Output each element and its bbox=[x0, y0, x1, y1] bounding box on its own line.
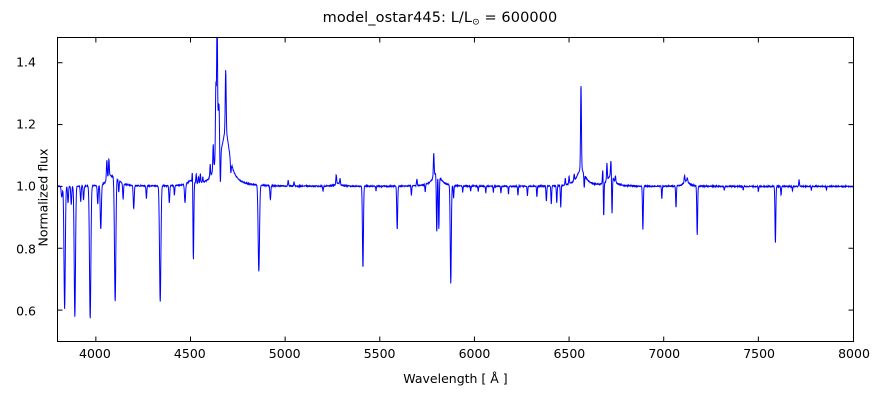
spectrum-figure: model_ostar445: L/L⊙ = 600000 Normalized… bbox=[0, 0, 880, 400]
x-tick-label: 6500 bbox=[553, 346, 585, 361]
y-tick-label: 0.8 bbox=[16, 241, 36, 256]
x-tick-label: 4000 bbox=[79, 346, 111, 361]
plot-area bbox=[57, 37, 854, 342]
chart-title-suffix: = 600000 bbox=[480, 10, 558, 26]
y-tick-label: 1.2 bbox=[16, 117, 36, 132]
x-tick-label: 6000 bbox=[459, 346, 491, 361]
x-tick-label: 7500 bbox=[743, 346, 775, 361]
y-tick-label: 1.0 bbox=[16, 179, 36, 194]
chart-title: model_ostar445: L/L⊙ = 600000 bbox=[0, 10, 880, 28]
x-axis-label: Wavelength [ Å ] bbox=[57, 371, 854, 386]
x-tick-label: 5000 bbox=[269, 346, 301, 361]
chart-title-prefix: model_ostar445: L/L bbox=[323, 10, 472, 26]
spectrum-trace bbox=[58, 38, 853, 318]
y-tick-label: 0.6 bbox=[16, 303, 36, 318]
x-tick-label: 4500 bbox=[174, 346, 206, 361]
solar-symbol-subscript: ⊙ bbox=[472, 18, 480, 28]
x-tick-label: 8000 bbox=[838, 346, 870, 361]
x-ticks-top bbox=[96, 38, 759, 42]
y-axis-label: Normalized flux bbox=[36, 98, 51, 298]
x-tick-label: 7000 bbox=[648, 346, 680, 361]
x-tick-label: 5500 bbox=[364, 346, 396, 361]
spectrum-line-plot bbox=[58, 38, 853, 341]
y-tick-label: 1.4 bbox=[16, 54, 36, 69]
x-ticks-bottom bbox=[96, 337, 759, 341]
